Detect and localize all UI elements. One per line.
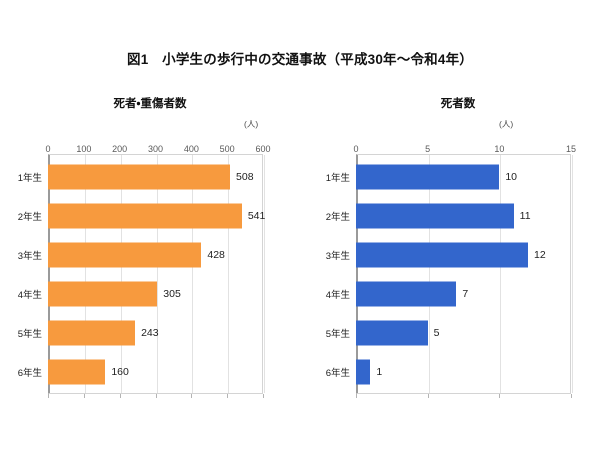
bar-row: 4年生305 <box>8 274 292 313</box>
bar-value-label: 508 <box>236 171 254 183</box>
bar-value-label: 428 <box>207 249 225 261</box>
bar[interactable] <box>356 203 514 228</box>
bar-row: 5年生243 <box>8 313 292 352</box>
category-label: 6年生 <box>8 365 42 379</box>
bar[interactable] <box>48 203 242 228</box>
x-axis-tick-label: 0 <box>353 144 358 154</box>
x-axis-tick-mark <box>84 394 85 398</box>
x-axis-tick-mark <box>356 394 357 398</box>
x-axis-tick-mark <box>227 394 228 398</box>
x-axis-tick-label: 500 <box>220 144 235 154</box>
bar[interactable] <box>48 359 105 384</box>
bar-row: 2年生11 <box>316 196 600 235</box>
bar-value-label: 10 <box>505 171 517 183</box>
bar-row: 2年生541 <box>8 196 292 235</box>
bar[interactable] <box>356 281 456 306</box>
x-axis-tick-labels: 0100200300400500600 <box>8 140 292 154</box>
bar-value-label: 541 <box>248 210 266 222</box>
x-axis-tick-mark <box>156 394 157 398</box>
plot-region: 1年生5082年生5413年生4284年生3055年生2436年生160 <box>8 154 292 400</box>
bar-row: 3年生12 <box>316 235 600 274</box>
category-label: 3年生 <box>8 248 42 262</box>
category-label: 1年生 <box>316 170 350 184</box>
x-axis-tick-labels: 051015 <box>316 140 600 154</box>
bar[interactable] <box>356 242 528 267</box>
plot-region: 1年生102年生113年生124年生75年生56年生1 <box>316 154 600 400</box>
chart-body-deaths: 0510151年生102年生113年生124年生75年生56年生1 <box>316 140 600 400</box>
category-label: 4年生 <box>8 287 42 301</box>
bar-row: 6年生1 <box>316 352 600 391</box>
bar-row: 6年生160 <box>8 352 292 391</box>
bar-row: 5年生5 <box>316 313 600 352</box>
figure-canvas: 図1 小学生の歩行中の交通事故（平成30年～令和4年） 死者・重傷者数 (人) … <box>0 0 600 450</box>
bar-value-label: 243 <box>141 327 159 339</box>
bar-value-label: 7 <box>462 288 468 300</box>
axis-unit-label-left: (人) <box>244 118 258 130</box>
bar-value-label: 5 <box>434 327 440 339</box>
x-axis-tick-mark <box>263 394 264 398</box>
x-axis-tick-label: 5 <box>425 144 430 154</box>
bar-value-label: 12 <box>534 249 546 261</box>
x-axis-tick-mark <box>571 394 572 398</box>
bar-value-label: 11 <box>520 210 531 222</box>
category-label: 6年生 <box>316 365 350 379</box>
category-label: 5年生 <box>316 326 350 340</box>
x-axis-tick-mark <box>428 394 429 398</box>
x-axis-tick-label: 600 <box>255 144 270 154</box>
x-axis-tick-label: 200 <box>112 144 127 154</box>
figure-title: 図1 小学生の歩行中の交通事故（平成30年～令和4年） <box>0 48 600 68</box>
bar-value-label: 1 <box>376 366 382 378</box>
bar-value-label: 160 <box>111 366 129 378</box>
bar[interactable] <box>48 320 135 345</box>
category-label: 4年生 <box>316 287 350 301</box>
x-axis-tick-label: 0 <box>45 144 50 154</box>
bar[interactable] <box>356 359 370 384</box>
category-label: 1年生 <box>8 170 42 184</box>
x-axis-tick-label: 15 <box>566 144 576 154</box>
bar[interactable] <box>48 242 201 267</box>
chart-body-deaths-and-serious: 01002003004005006001年生5082年生5413年生4284年生… <box>8 140 292 400</box>
x-axis-tick-label: 100 <box>76 144 91 154</box>
axis-unit-label-right: (人) <box>499 118 513 130</box>
category-label: 3年生 <box>316 248 350 262</box>
bar[interactable] <box>48 281 157 306</box>
bar[interactable] <box>356 164 499 189</box>
x-axis-tick-mark <box>120 394 121 398</box>
x-axis-tick-mark <box>191 394 192 398</box>
chart-panel-deaths-and-serious: 死者・重傷者数 (人) 01002003004005006001年生5082年生… <box>8 96 292 112</box>
category-label: 5年生 <box>8 326 42 340</box>
chart-title-deaths-and-serious: 死者・重傷者数 <box>8 96 292 112</box>
category-label: 2年生 <box>316 209 350 223</box>
x-axis-tick-label: 10 <box>494 144 504 154</box>
bar[interactable] <box>356 320 428 345</box>
x-axis-tick-mark <box>48 394 49 398</box>
bar[interactable] <box>48 164 230 189</box>
bar-row: 3年生428 <box>8 235 292 274</box>
bar-row: 4年生7 <box>316 274 600 313</box>
bar-row: 1年生10 <box>316 157 600 196</box>
chart-panel-deaths: 死者数 (人) 0510151年生102年生113年生124年生75年生56年生… <box>316 96 600 112</box>
x-axis-tick-label: 300 <box>148 144 163 154</box>
chart-title-deaths: 死者数 <box>316 96 600 112</box>
x-axis-tick-mark <box>499 394 500 398</box>
x-axis-tick-label: 400 <box>184 144 199 154</box>
bar-value-label: 305 <box>163 288 181 300</box>
category-label: 2年生 <box>8 209 42 223</box>
bar-row: 1年生508 <box>8 157 292 196</box>
